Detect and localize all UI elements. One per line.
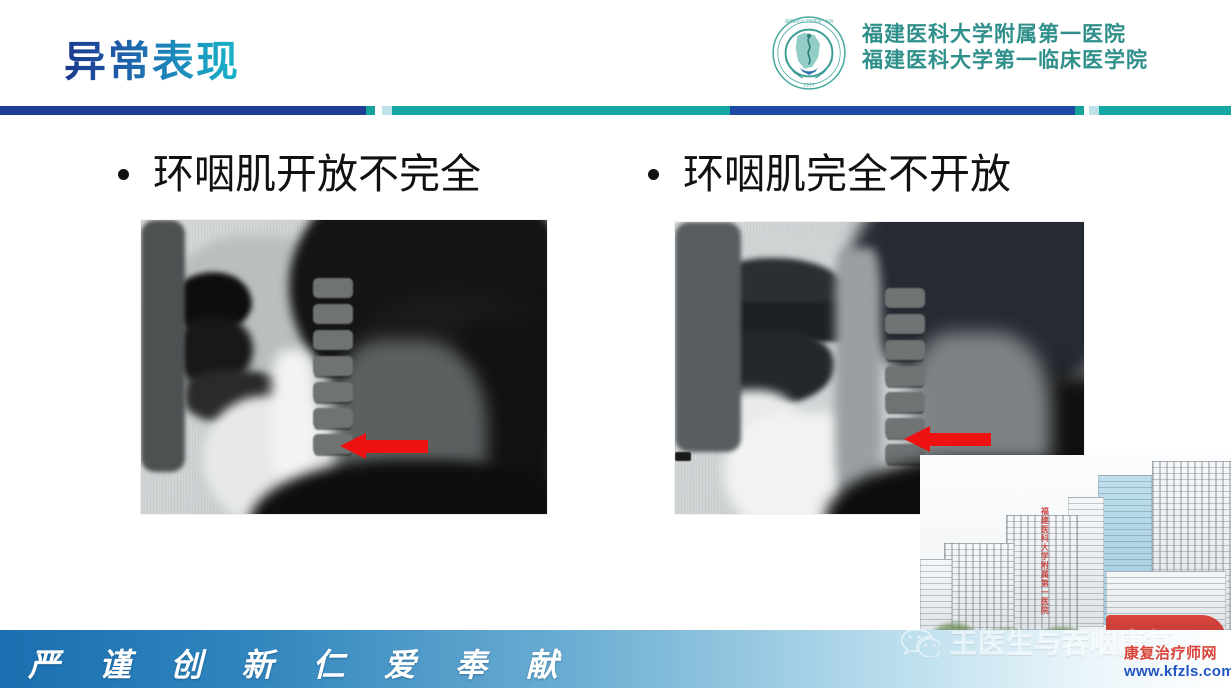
arrow-head-icon [340, 433, 366, 459]
hospital-building-photo: 福建医科大学附属第一医院 [920, 455, 1231, 650]
pharyngeal-airway [271, 350, 315, 480]
divider-segment-7 [1099, 106, 1231, 115]
bullet-item-left: 环咽肌开放不完全 [118, 152, 481, 197]
divider-segment-1 [366, 106, 375, 115]
divider-segment-0 [0, 106, 366, 115]
svg-text:福建医科大学附属第一医院: 福建医科大学附属第一医院 [785, 18, 834, 24]
bullet-dot-icon [648, 169, 659, 180]
xray-image-left [141, 220, 547, 514]
hospital-name-line1: 福建医科大学附属第一医院 [862, 23, 1126, 46]
vertebra [313, 408, 353, 428]
svg-text:1937: 1937 [803, 83, 815, 89]
vertebra [313, 382, 353, 402]
bullet-label-left: 环咽肌开放不完全 [153, 152, 481, 197]
presentation-slide: 异常表现 1937 福建医科大学附属第一医院 [0, 0, 1231, 688]
wechat-icon [900, 627, 940, 657]
hospital-name-line2: 福建医科大学第一临床医学院 [862, 48, 1148, 74]
vertebra [885, 314, 925, 334]
divider-segment-4 [730, 106, 1075, 115]
vertebra [885, 340, 925, 360]
cervical-spine [141, 220, 185, 472]
vertebra [885, 288, 925, 308]
slide-header: 异常表现 1937 福建医科大学附属第一医院 [0, 0, 1231, 100]
red-arrow-annotation-right [904, 426, 991, 452]
cervical-spine [675, 222, 741, 452]
bullet-item-right: 环咽肌完全不开放 [648, 152, 1011, 197]
hospital-motto: 严 谨 创 新 仁 爱 奉 献 [28, 640, 572, 686]
divider-segment-5 [1075, 106, 1084, 115]
divider-segment-2 [382, 106, 392, 115]
hospital-sign-text: 福建医科大学附属第一医院 [1040, 507, 1048, 615]
arrow-head-icon [904, 426, 930, 452]
vertebra [885, 366, 925, 386]
hospital-logo: 1937 福建医科大学附属第一医院 福建医科大学附属第一医院 福建医科大学第一临… [770, 12, 1210, 92]
site-url: www.kfzls.com [1124, 663, 1231, 681]
hospital-logo-text: 福建医科大学附属第一医院 福建医科大学第一临床医学院 [862, 22, 1148, 73]
vertebra [313, 304, 353, 324]
site-watermark: 康复治疗师网 www.kfzls.com [1124, 645, 1231, 680]
bullet-dot-icon [118, 169, 129, 180]
divider-segment-3 [392, 106, 730, 115]
vertebra [313, 356, 353, 376]
hospital-emblem-icon: 1937 福建医科大学附属第一医院 [770, 14, 848, 92]
vertebra [885, 392, 925, 412]
bullet-label-right: 环咽肌完全不开放 [683, 152, 1011, 197]
site-name-cn: 康复治疗师网 [1124, 645, 1231, 663]
vertebra [313, 330, 353, 350]
divider-segment-6 [1089, 106, 1099, 115]
header-divider-bar [0, 106, 1231, 115]
arrow-shaft [928, 433, 991, 446]
pharyngeal-airway [835, 248, 881, 498]
red-arrow-annotation-left [340, 433, 428, 459]
page-title: 异常表现 [64, 28, 240, 89]
arrow-shaft [364, 440, 428, 453]
vertebra [313, 278, 353, 298]
marker-clip [675, 452, 691, 461]
